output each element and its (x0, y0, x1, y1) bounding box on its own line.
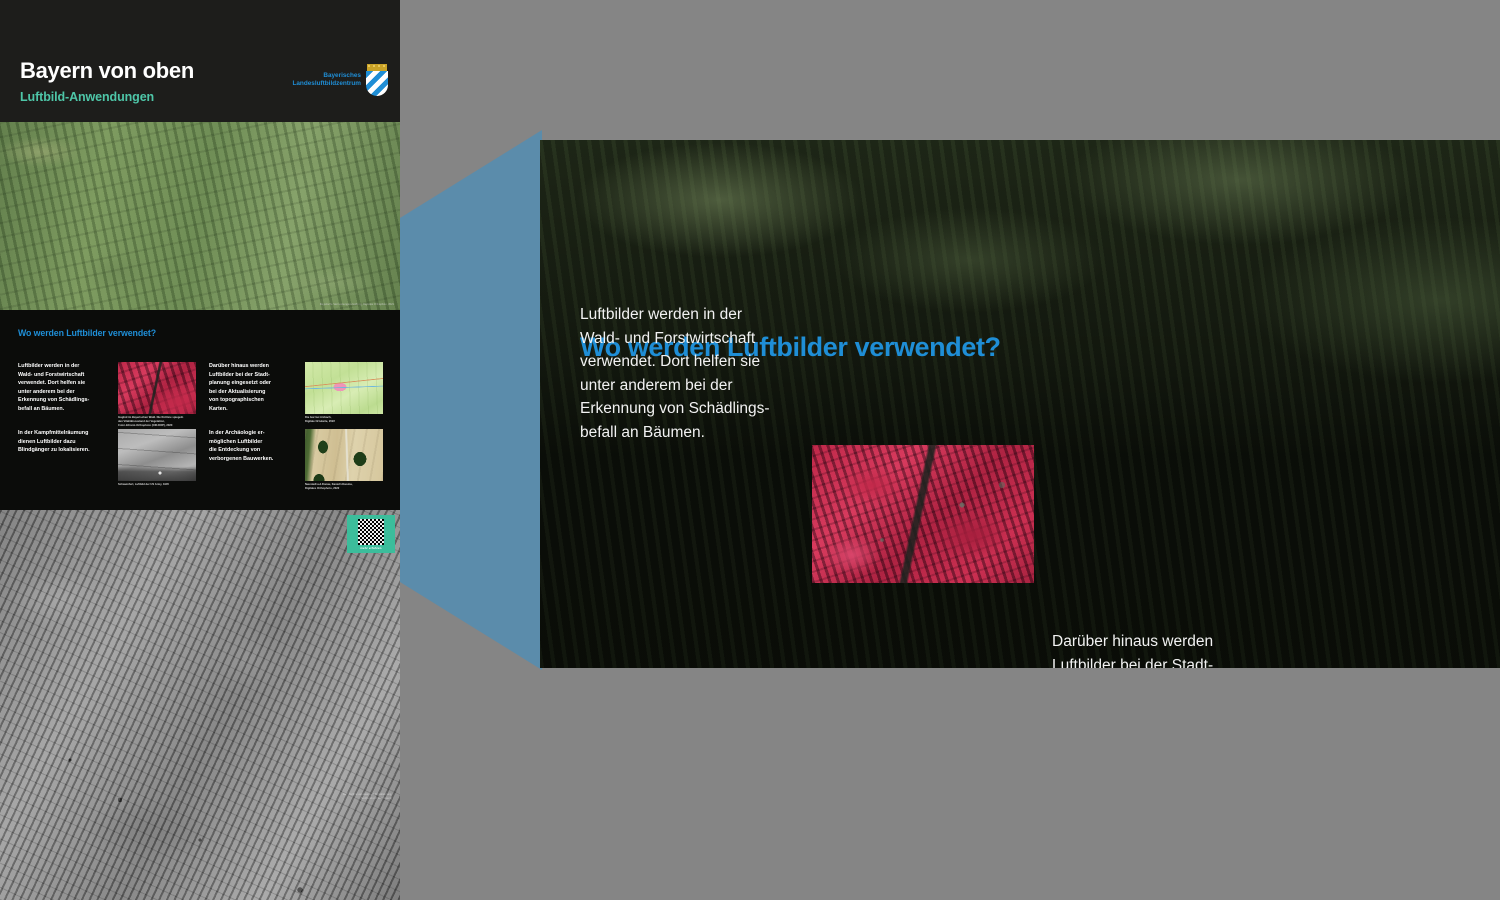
screenshot-canvas: Bayern von oben Luftbild-Anwendungen Bay… (0, 0, 1500, 900)
poster-top-photo-credit: Bayerische Vermessungsverwaltung, Digita… (320, 303, 394, 307)
poster-image-2 (118, 429, 196, 481)
poster-image-3 (305, 429, 383, 481)
poster-block-text-1: Darüber hinaus werden Luftbilder bei der… (209, 362, 297, 413)
poster-header: Bayern von oben Luftbild-Anwendungen Bay… (0, 0, 400, 122)
panel-image-cir-orthophoto[interactable] (812, 445, 1034, 583)
exhibit-poster: Bayern von oben Luftbild-Anwendungen Bay… (0, 0, 400, 900)
organization-logo: Bayerisches Landesluftbildzentrum (292, 64, 388, 96)
poster-image-1 (305, 362, 383, 414)
panel-block-text-forestry: Luftbilder werden in der Wald- und Forst… (580, 303, 815, 444)
poster-block-text-3: In der Archäologie er- möglichen Luftbil… (209, 429, 297, 463)
poster-block-text-0: Luftbilder werden in der Wald- und Forst… (18, 362, 110, 413)
poster-aerial-photo-farmland: Bayerische Vermessungsverwaltung, Digita… (0, 122, 400, 310)
poster-subtitle: Luftbild-Anwendungen (20, 91, 154, 104)
poster-title: Bayern von oben (20, 60, 194, 82)
poster-caption-0: Guglöd im Bayerischen Wald. Die Rottöne … (118, 416, 198, 427)
poster-section-title: Wo werden Luftbilder verwendet? (18, 328, 156, 338)
enlarged-panel-view: Wo werden Luftbilder verwendet? Luftbild… (540, 140, 1500, 668)
poster-caption-2: Schweinfurt, Luftbild der US Army, 1945 (118, 483, 198, 487)
poster-content-section: Wo werden Luftbilder verwendet? Luftbild… (0, 310, 400, 510)
qr-code-badge[interactable]: mehr erfahren (347, 515, 395, 553)
bavaria-coat-of-arms-icon (366, 64, 388, 96)
qr-code-icon (358, 519, 384, 545)
organization-logo-text: Bayerisches Landesluftbildzentrum (292, 72, 361, 88)
poster-caption-3: Neustadt a.d.Donau, Kastell Abusina, Dig… (305, 483, 385, 491)
panel-block-text-urban-planning: Darüber hinaus werden Luftbilder bei der… (1052, 630, 1267, 668)
zoom-connector-wedge (392, 130, 542, 670)
poster-block-text-2: In der Kampfmittelräumung dienen Luftbil… (18, 429, 112, 455)
poster-image-0 (118, 362, 196, 414)
poster-caption-1: Die Isar bei Arzbach, Digitale Ortskarte… (305, 416, 385, 424)
poster-bottom-photo-credit: Bayerisches Landesamt für Digitalisierun… (343, 793, 392, 800)
qr-code-label: mehr erfahren (351, 546, 391, 550)
poster-historic-aerial-photo: Bayerisches Landesamt für Digitalisierun… (0, 510, 400, 900)
